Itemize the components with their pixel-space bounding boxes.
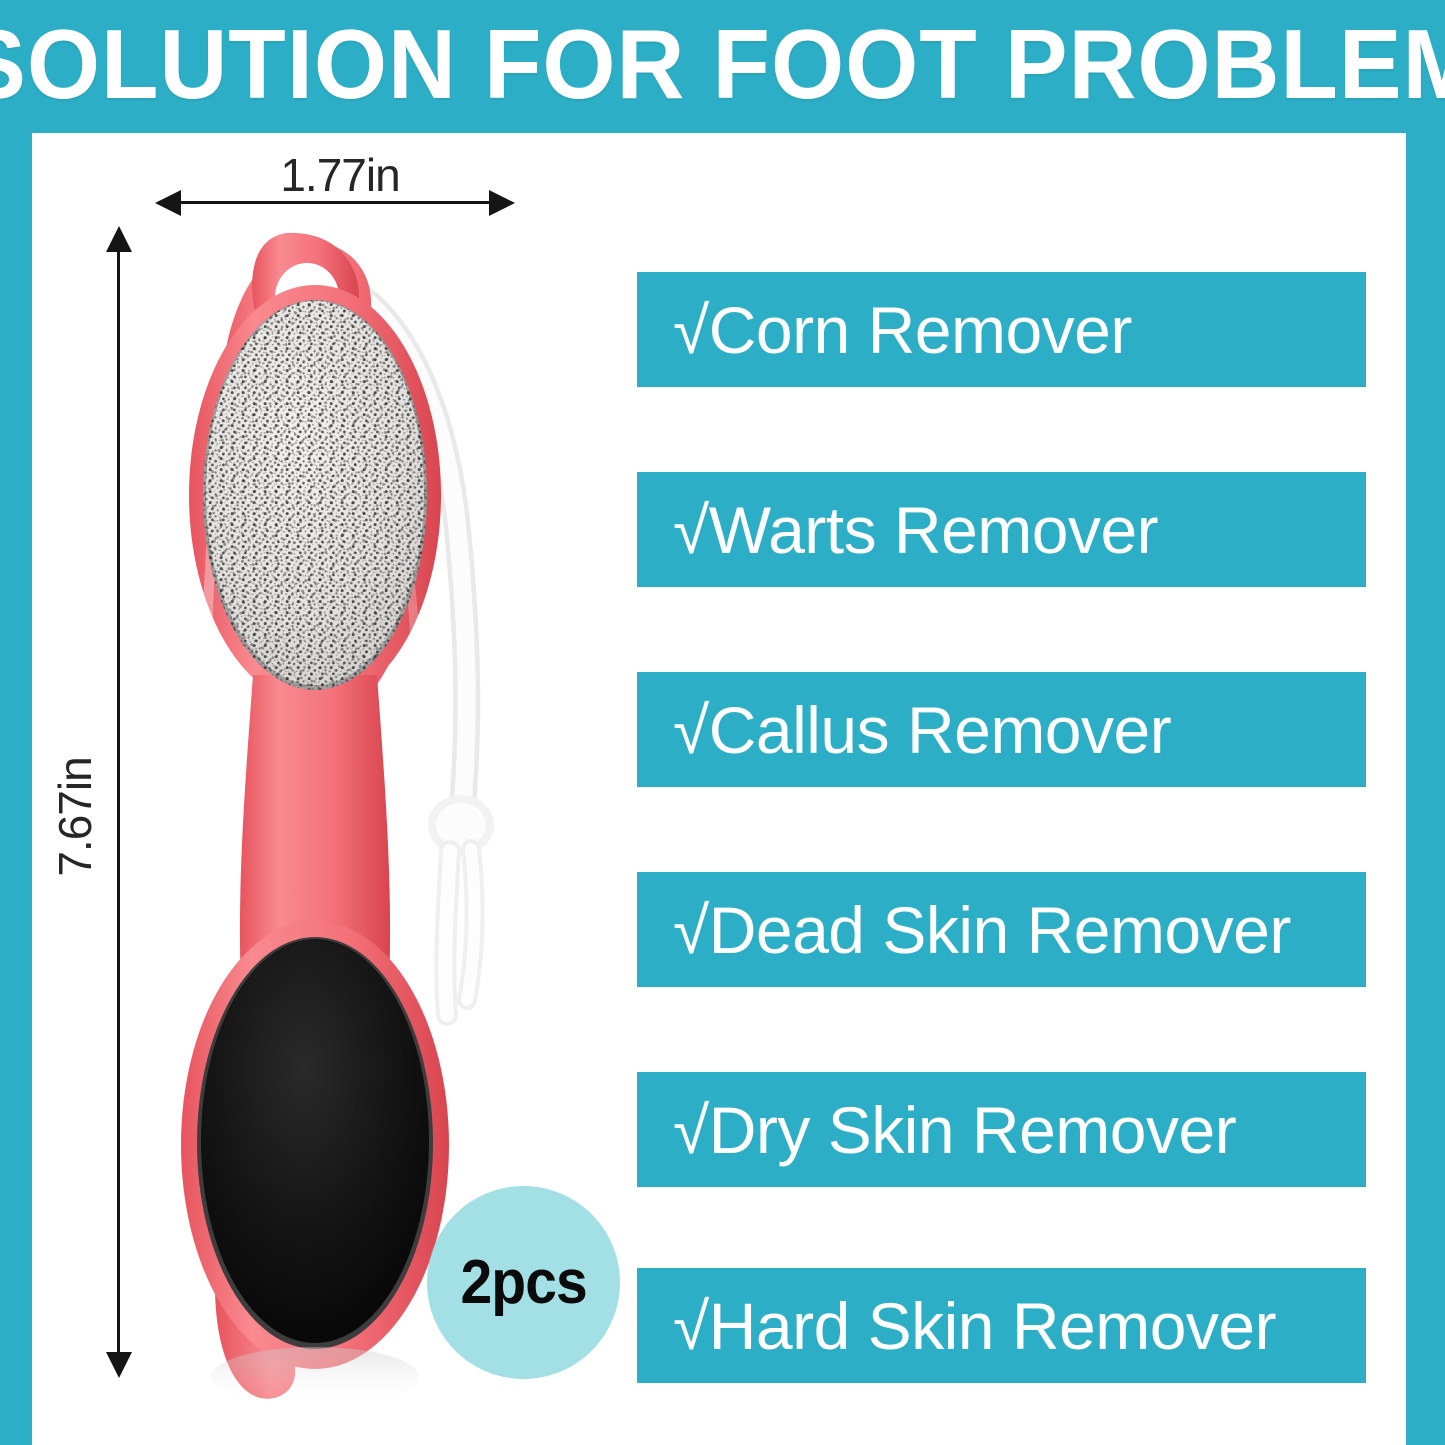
feature-item-warts-remover: √Warts Remover: [637, 472, 1366, 587]
infographic-page: SOLUTION FOR FOOT PROBLEM 1.77in 7.67in: [0, 0, 1445, 1445]
width-arrow-right-icon: [489, 190, 515, 216]
height-arrow-bottom-icon: [106, 1352, 132, 1378]
frame-border-left: [0, 0, 32, 1445]
feature-item-label: √Warts Remover: [637, 497, 1158, 563]
height-dimension-label: 7.67in: [48, 707, 102, 927]
feature-item-callus-remover: √Callus Remover: [637, 672, 1366, 787]
feature-list: √Corn Remover √Warts Remover √Callus Rem…: [637, 272, 1366, 1372]
feature-item-label: √Callus Remover: [637, 697, 1171, 763]
product-reflection: [211, 1347, 419, 1407]
feature-item-dry-skin-remover: √Dry Skin Remover: [637, 1072, 1366, 1187]
width-arrow-left-icon: [155, 190, 181, 216]
emery-board-pad: [197, 937, 433, 1349]
feature-item-corn-remover: √Corn Remover: [637, 272, 1366, 387]
feature-item-hard-skin-remover: √Hard Skin Remover: [637, 1268, 1366, 1383]
feature-item-label: √Dead Skin Remover: [637, 897, 1291, 963]
quantity-badge: 2pcs: [427, 1186, 620, 1379]
page-title: SOLUTION FOR FOOT PROBLEM: [29, 0, 1416, 133]
width-dimension-label: 1.77in: [180, 148, 500, 202]
feature-item-dead-skin-remover: √Dead Skin Remover: [637, 872, 1366, 987]
height-dimension-line: [117, 238, 120, 1368]
feature-item-label: √Hard Skin Remover: [637, 1293, 1276, 1359]
width-dimension-line: [163, 201, 508, 204]
quantity-badge-label: 2pcs: [460, 1247, 586, 1318]
feature-item-label: √Dry Skin Remover: [637, 1097, 1236, 1163]
height-arrow-top-icon: [106, 226, 132, 252]
frame-border-right: [1406, 0, 1445, 1445]
feature-item-label: √Corn Remover: [637, 297, 1132, 363]
